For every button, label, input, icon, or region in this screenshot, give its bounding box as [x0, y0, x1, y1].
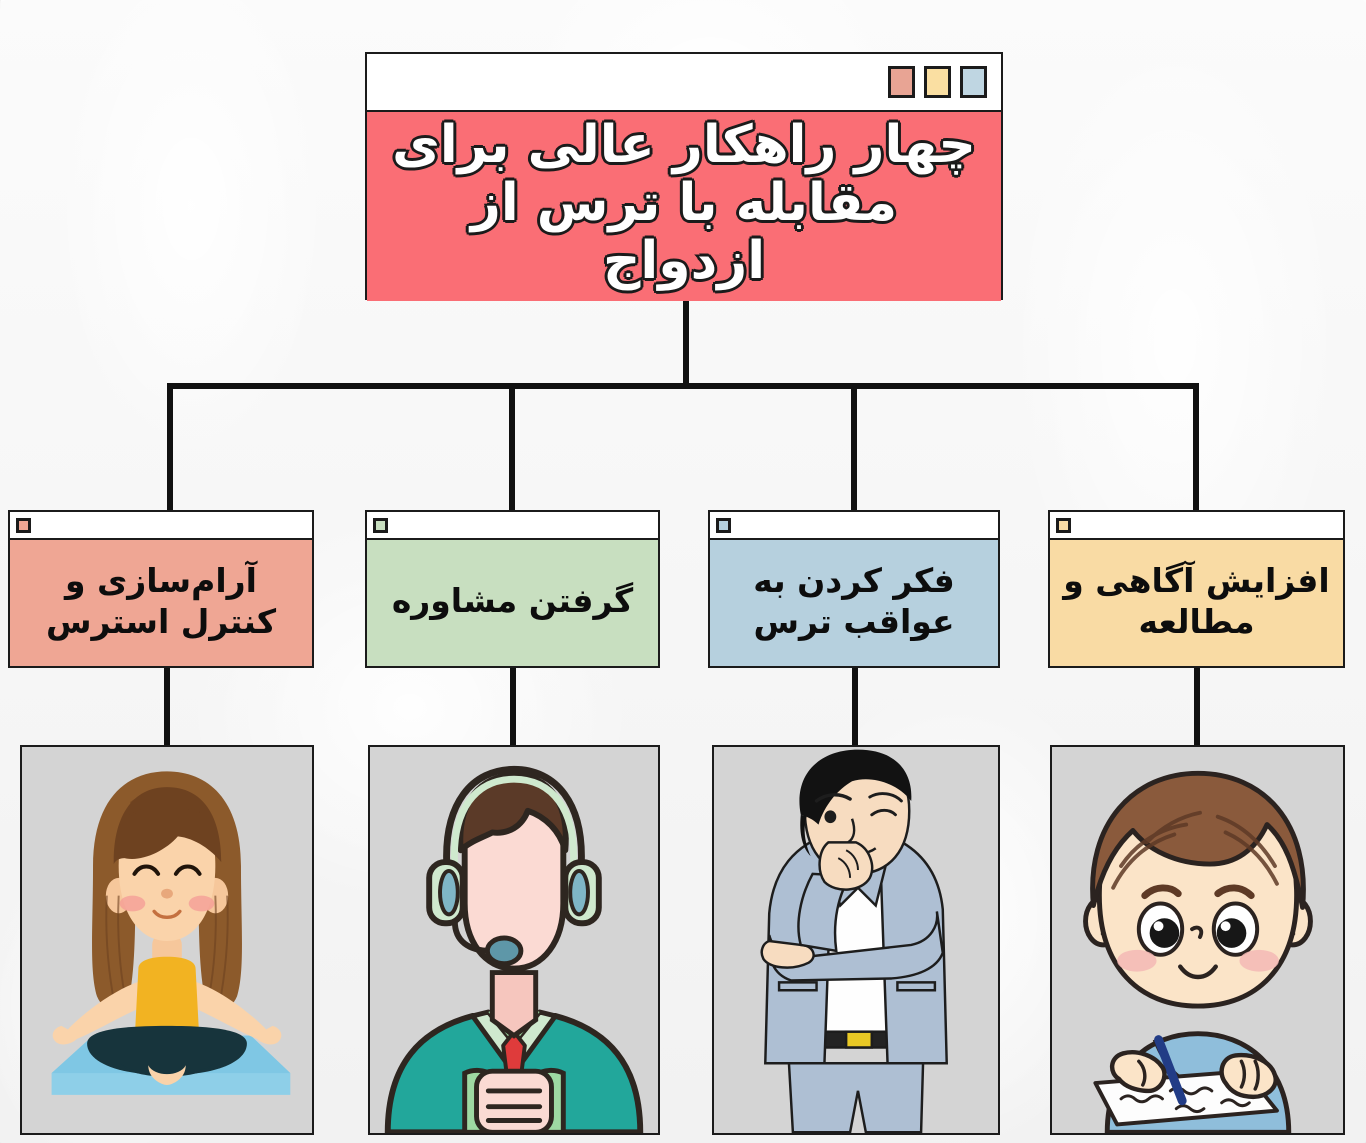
step-card-2-titlebar: [367, 512, 658, 540]
window-square-icon: [1056, 518, 1071, 533]
chip-cream-icon: [924, 66, 951, 98]
step-card-4-body: افزایش آگاهی و مطالعه: [1050, 540, 1343, 666]
step-card-3-label: فکر کردن به عواقب ترس: [720, 560, 988, 643]
illustration-panel-meditation: [20, 745, 314, 1135]
connector-drop-3: [851, 383, 857, 511]
step-card-4-titlebar: [1050, 512, 1343, 540]
title-window-body: چهار راهکار عالی برای مقابله با ترس از ا…: [367, 112, 1001, 301]
window-square-icon: [373, 518, 388, 533]
step-card-3[interactable]: فکر کردن به عواقب ترس: [708, 510, 1000, 668]
child-studying-icon: [1052, 747, 1343, 1133]
woman-meditating-icon: [22, 747, 312, 1133]
title-window-card[interactable]: چهار راهکار عالی برای مقابله با ترس از ا…: [365, 52, 1003, 300]
illustration-panel-child-studying: [1050, 745, 1345, 1135]
connector-horizontal-bus: [167, 383, 1199, 389]
page-title: چهار راهکار عالی برای مقابله با ترس از ا…: [381, 116, 987, 291]
connector-drop-4: [1193, 383, 1199, 511]
step-card-1-label: آرام‌سازی و کنترل استرس: [20, 560, 302, 643]
step-card-1[interactable]: آرام‌سازی و کنترل استرس: [8, 510, 314, 668]
step-card-3-titlebar: [710, 512, 998, 540]
man-thinking-icon: [714, 747, 998, 1133]
connector-card-to-image-3: [852, 667, 858, 747]
connector-card-to-image-2: [510, 667, 516, 747]
connector-trunk-vertical: [683, 298, 689, 388]
step-card-2-label: گرفتن مشاوره: [392, 580, 633, 621]
counselor-headset-icon: [370, 747, 658, 1133]
step-card-1-body: آرام‌سازی و کنترل استرس: [10, 540, 312, 666]
title-window-titlebar: [367, 54, 1001, 112]
connector-card-to-image-4: [1194, 667, 1200, 747]
step-card-4[interactable]: افزایش آگاهی و مطالعه: [1048, 510, 1345, 668]
step-card-2[interactable]: گرفتن مشاوره: [365, 510, 660, 668]
chip-blue-icon: [960, 66, 987, 98]
step-card-2-body: گرفتن مشاوره: [367, 540, 658, 666]
connector-card-to-image-1: [164, 667, 170, 747]
window-square-icon: [16, 518, 31, 533]
step-card-3-body: فکر کردن به عواقب ترس: [710, 540, 998, 666]
step-card-1-titlebar: [10, 512, 312, 540]
step-card-4-label: افزایش آگاهی و مطالعه: [1060, 560, 1333, 643]
chip-salmon-icon: [888, 66, 915, 98]
illustration-panel-counselor: [368, 745, 660, 1135]
connector-drop-1: [167, 383, 173, 511]
illustration-panel-thinking-man: [712, 745, 1000, 1135]
connector-drop-2: [509, 383, 515, 511]
window-square-icon: [716, 518, 731, 533]
